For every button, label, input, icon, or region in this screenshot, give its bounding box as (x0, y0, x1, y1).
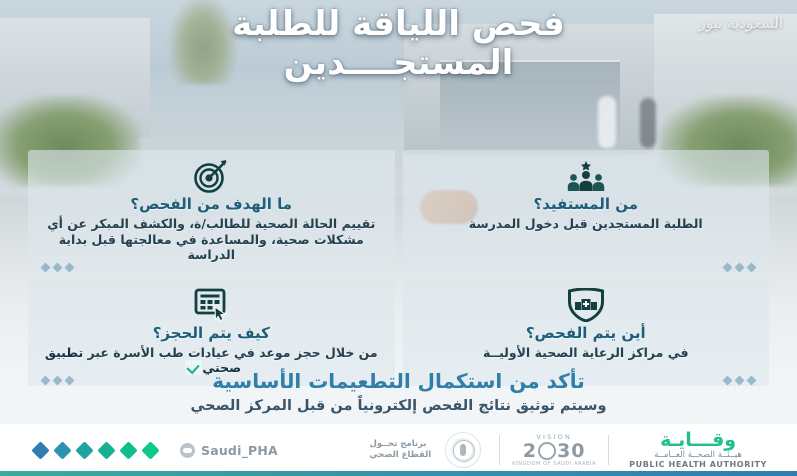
vision-ring-icon (538, 442, 556, 460)
card-purpose: ما الهدف من الفحص؟ تقييم الحالة الصحية ل… (28, 150, 395, 273)
authority-subtitle-ar: هيــئــة الصحــة العــامــة (654, 450, 742, 460)
card-title: ما الهدف من الفحص؟ (130, 195, 292, 214)
card-dots (724, 264, 755, 271)
hospital-shield-icon (567, 287, 605, 323)
divider (608, 435, 609, 465)
info-card-grid: من المستفيد؟ الطلبة المستجدين قبل دخول ا… (0, 150, 797, 372)
card-dots (42, 264, 73, 271)
brand-diamond (119, 441, 137, 459)
footer-bar: Saudi_PHA وقـــايـة هيــئــة الصحــة الع… (0, 424, 797, 476)
social-handle-text: Saudi_PHA (201, 443, 278, 458)
dot (65, 262, 75, 272)
brand-diamond (97, 441, 115, 459)
target-icon (192, 158, 230, 194)
health-transformation-program-logo: برنامج تحــول القطاع الصحي (370, 439, 436, 461)
card-title: أين يتم الفحص؟ (526, 324, 646, 343)
infographic-poster: فحص اللياقة للطلبة المستجــــدين السعودي… (0, 0, 797, 476)
vision-2030-logo: VISION 230 KINGDOM OF SAUDI ARABIA (508, 433, 600, 468)
dot (735, 262, 745, 272)
card-body: في مراكز الرعاية الصحية الأوليــة (483, 345, 689, 361)
divider (499, 435, 500, 465)
brand-diamond (141, 441, 159, 459)
card-body: تقييم الحالة الصحية للطالب/ة، والكشف الم… (42, 216, 381, 263)
dot (41, 262, 51, 272)
card-beneficiary: من المستفيد؟ الطلبة المستجدين قبل دخول ا… (403, 150, 770, 273)
program-line-1: برنامج تحــول (370, 439, 427, 450)
poster-headline: فحص اللياقة للطلبة المستجــــدين (0, 4, 797, 82)
closing-subtext: وسيتم توثيق نتائج الفحص إلكترونياً من قب… (0, 396, 797, 416)
footer-right: وقـــايـة هيــئــة الصحــة العــامــة PU… (370, 424, 779, 476)
headline-line-1: فحص اللياقة للطلبة (0, 4, 797, 44)
vision-subtitle: KINGDOM OF SAUDI ARABIA (512, 461, 596, 468)
brand-diamond (75, 441, 93, 459)
public-health-authority-logo: وقـــايـة هيــئــة الصحــة العــامــة PU… (617, 430, 779, 470)
background-person-one (598, 96, 616, 148)
footer-gradient-rule (0, 471, 797, 476)
authority-name-ar: وقـــايـة (660, 430, 736, 450)
social-handle-group[interactable]: Saudi_PHA (180, 443, 278, 458)
dot (53, 262, 63, 272)
brand-diamond (53, 441, 71, 459)
card-title: كيف يتم الحجز؟ (153, 324, 270, 343)
footer-left: Saudi_PHA (34, 424, 278, 476)
health-transformation-seal-icon (445, 432, 481, 468)
twitter-x-icon[interactable] (180, 443, 195, 458)
closing-message: تأكد من استكمال التطعيمات الأساسية وسيتم… (0, 368, 797, 416)
card-title: من المستفيد؟ (534, 195, 639, 214)
brand-diamond (31, 441, 49, 459)
program-line-2: القطاع الصحي (370, 450, 432, 461)
online-booking-icon (192, 287, 230, 323)
vision-number: 230 (523, 441, 586, 461)
closing-heading: تأكد من استكمال التطعيمات الأساسية (0, 368, 797, 394)
headline-line-2: المستجــــدين (0, 44, 797, 82)
authority-subtitle-en: PUBLIC HEALTH AUTHORITY (629, 460, 767, 470)
card-body-text: من خلال حجز موعد في عيادات طب الأسرة عبر (83, 345, 378, 360)
dot (723, 262, 733, 272)
dot (747, 262, 757, 272)
students-group-icon (566, 158, 606, 194)
background-person-two (640, 98, 656, 148)
card-body: الطلبة المستجدين قبل دخول المدرسة (469, 216, 703, 232)
